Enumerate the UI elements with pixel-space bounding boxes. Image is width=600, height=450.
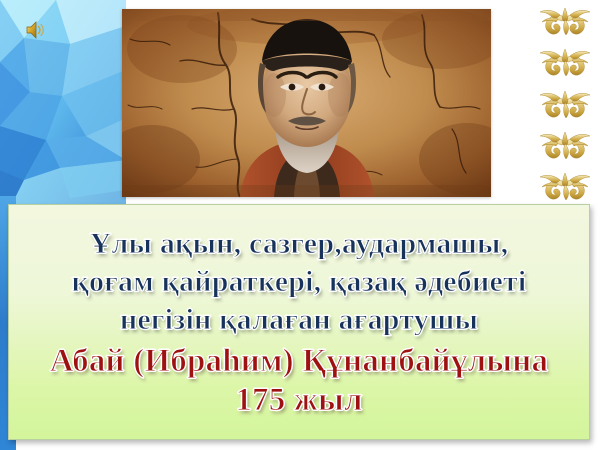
slide-canvas: Ұлы ақын, сазгер,аудармашы, қоғам қайрат… — [0, 0, 600, 450]
kazakh-ornament-icon — [536, 6, 594, 37]
speaker-icon[interactable] — [24, 20, 46, 40]
kazakh-ornament-icon — [536, 171, 594, 202]
portrait-image-icon — [122, 9, 491, 197]
title-line-3: негізін қалаған ағартушы — [9, 304, 589, 336]
speaker-glyph-icon — [24, 20, 46, 40]
abai-portrait — [122, 9, 491, 197]
title-line-2: қоғам қайраткері, қазақ әдебиеті — [9, 266, 589, 298]
kazakh-ornament-icon — [536, 130, 594, 161]
kazakh-ornament-icon — [536, 47, 594, 78]
blue-polygon-background — [0, 0, 126, 208]
title-line-1: Ұлы ақын, сазгер,аудармашы, — [9, 228, 589, 260]
title-text-panel: Ұлы ақын, сазгер,аудармашы, қоғам қайрат… — [8, 204, 590, 440]
ornament-column — [534, 6, 596, 202]
polygon-pattern-icon — [0, 0, 126, 208]
title-line-5: 175 жыл — [9, 383, 589, 418]
kazakh-ornament-icon — [536, 89, 594, 120]
title-line-4: Абай (Ибраһим) Құнанбайұлына — [9, 344, 589, 379]
